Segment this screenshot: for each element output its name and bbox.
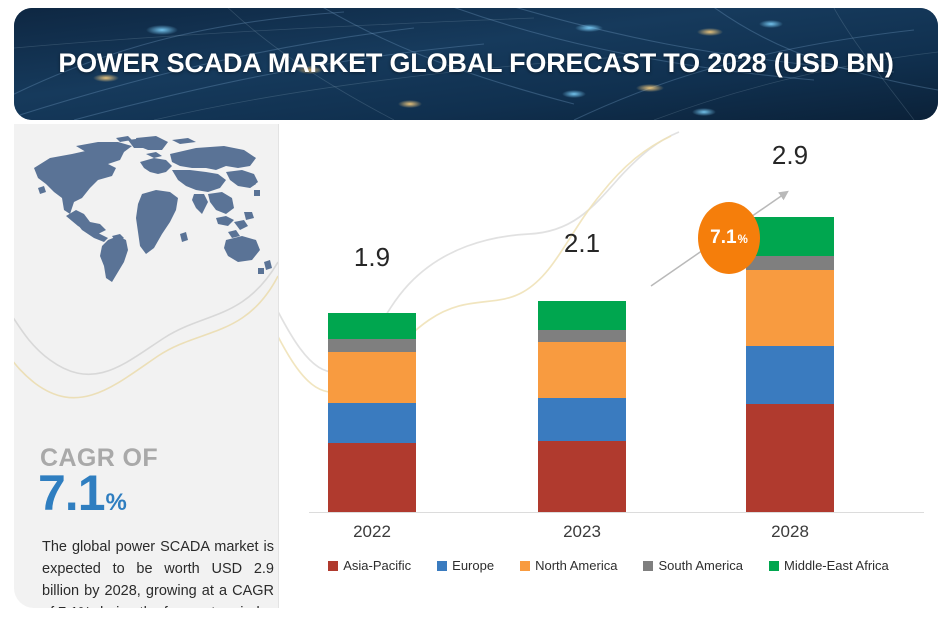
cagr-badge-text: 7.1 % <box>710 227 748 249</box>
plot-area: 1.9 2022 2.1 <box>279 124 938 608</box>
legend-swatch-middle-east-africa <box>769 561 779 571</box>
cagr-badge-value: 7.1 <box>710 227 736 249</box>
bar-segment-middle-east-africa <box>538 301 626 330</box>
sidebar: CAGR OF 7.1 % The global power SCADA mar… <box>14 124 278 608</box>
chart-legend: Asia-Pacific Europe North America South … <box>279 558 938 573</box>
infographic-root: POWER SCADA MARKET GLOBAL FORECAST TO 20… <box>0 0 952 622</box>
bar-segment-north-america <box>538 342 626 398</box>
legend-label-south-america: South America <box>658 558 743 573</box>
cagr-badge-percent: % <box>738 234 748 246</box>
bar-segment-europe <box>328 403 416 443</box>
category-label-2023: 2023 <box>502 522 662 542</box>
legend-item-asia-pacific[interactable]: Asia-Pacific <box>328 558 411 573</box>
cagr-badge: 7.1 % <box>698 202 760 274</box>
bar-total-2028: 2.9 <box>710 140 870 171</box>
legend-label-north-america: North America <box>535 558 617 573</box>
legend-swatch-asia-pacific <box>328 561 338 571</box>
legend-label-middle-east-africa: Middle-East Africa <box>784 558 889 573</box>
bar-segment-middle-east-africa <box>328 313 416 339</box>
bar-total-2022: 1.9 <box>292 242 452 273</box>
cagr-number: 7.1 <box>38 468 105 518</box>
world-map-icon <box>20 136 272 316</box>
bar-segment-north-america <box>328 352 416 403</box>
bar-segment-south-america <box>328 339 416 352</box>
legend-item-north-america[interactable]: North America <box>520 558 617 573</box>
header-banner: POWER SCADA MARKET GLOBAL FORECAST TO 20… <box>14 8 938 120</box>
legend-swatch-south-america <box>643 561 653 571</box>
legend-item-middle-east-africa[interactable]: Middle-East Africa <box>769 558 889 573</box>
bar-total-2023: 2.1 <box>502 228 662 259</box>
stacked-bar-2022[interactable] <box>328 313 416 512</box>
legend-swatch-europe <box>437 561 447 571</box>
legend-item-europe[interactable]: Europe <box>437 558 494 573</box>
bar-segment-south-america <box>538 330 626 342</box>
category-label-2028: 2028 <box>710 522 870 542</box>
bar-segment-asia-pacific <box>538 441 626 512</box>
sidebar-description: The global power SCADA market is expecte… <box>42 536 274 608</box>
page-title: POWER SCADA MARKET GLOBAL FORECAST TO 20… <box>14 8 938 120</box>
stacked-bar-2023[interactable] <box>538 301 626 512</box>
bar-segment-asia-pacific <box>746 404 834 512</box>
legend-item-south-america[interactable]: South America <box>643 558 743 573</box>
legend-label-asia-pacific: Asia-Pacific <box>343 558 411 573</box>
bar-segment-europe <box>538 398 626 441</box>
x-axis-line <box>309 512 924 513</box>
legend-label-europe: Europe <box>452 558 494 573</box>
chart-area: 1.9 2022 2.1 <box>279 124 938 608</box>
category-label-2022: 2022 <box>292 522 452 542</box>
cagr-value: 7.1 % <box>38 468 127 518</box>
bar-segment-asia-pacific <box>328 443 416 512</box>
cagr-percent-sign: % <box>106 489 127 517</box>
bar-segment-europe <box>746 346 834 404</box>
legend-swatch-north-america <box>520 561 530 571</box>
